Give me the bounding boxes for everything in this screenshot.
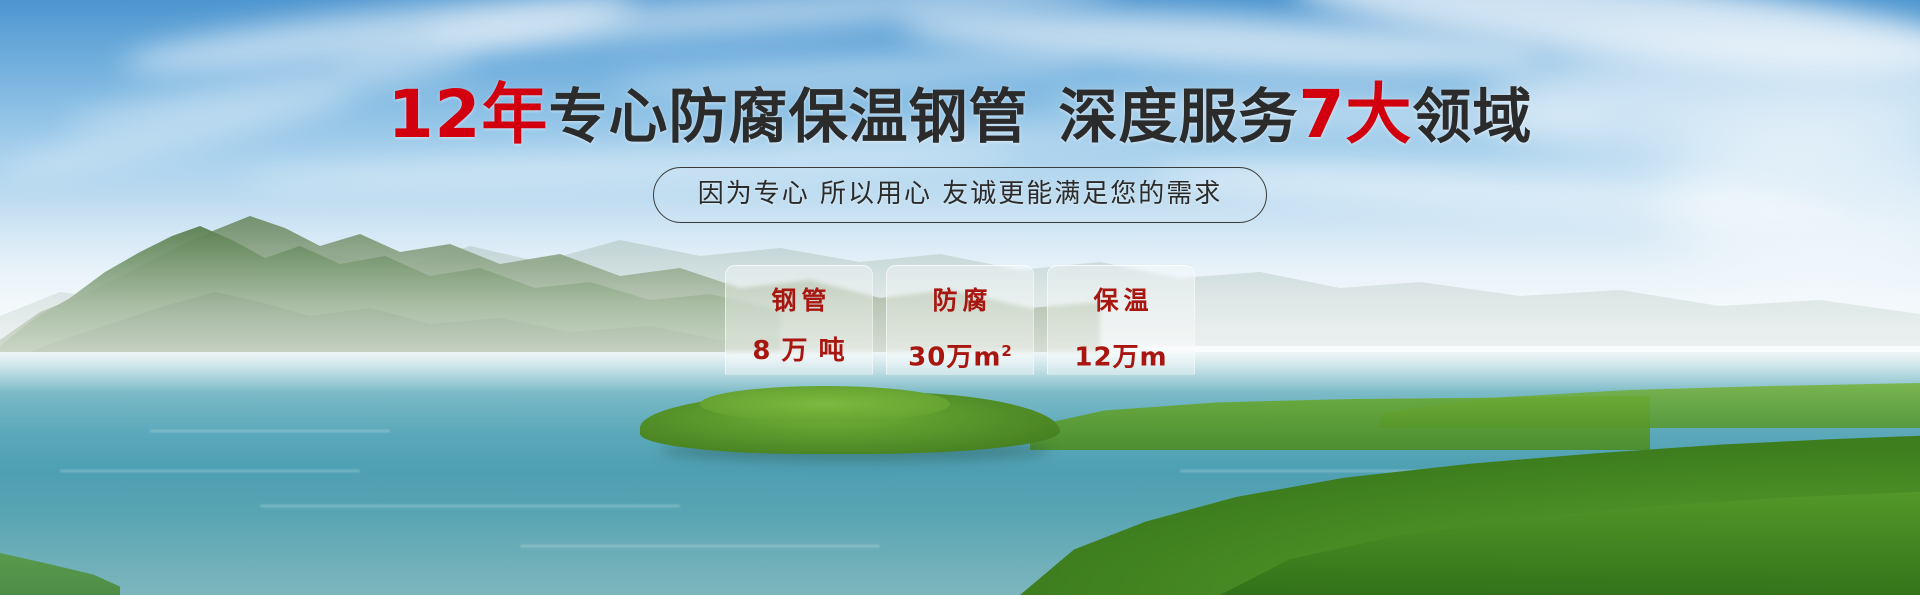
stats-row: 钢管 8 万 吨 防腐 30万m2 保温 12万m [0, 265, 1920, 375]
stat-value-text: 30万m [908, 343, 1001, 373]
headline-fields: 领域 [1412, 82, 1532, 151]
hero-banner: 12年专心防腐保温钢管深度服务7大领域 因为专心 所以用心 友诚更能满足您的需求… [0, 0, 1920, 595]
stat-value-text: 12万m [1074, 343, 1167, 373]
headline-main: 专心防腐保温钢管 [548, 82, 1028, 151]
stat-value: 12万m [1074, 336, 1167, 373]
subtitle-pill: 因为专心 所以用心 友诚更能满足您的需求 [653, 167, 1268, 223]
headline-fields-count: 7大 [1298, 76, 1412, 153]
subtitle-container: 因为专心 所以用心 友诚更能满足您的需求 [0, 167, 1920, 223]
banner-content: 12年专心防腐保温钢管深度服务7大领域 因为专心 所以用心 友诚更能满足您的需求… [0, 0, 1920, 595]
stat-label: 保温 [1088, 287, 1153, 315]
stat-value-superscript: 2 [1001, 342, 1011, 360]
stat-label: 钢管 [766, 287, 831, 315]
headline: 12年专心防腐保温钢管深度服务7大领域 [0, 82, 1920, 150]
stat-card-anticorrosion: 防腐 30万m2 [886, 265, 1034, 375]
stat-card-steel-pipe: 钢管 8 万 吨 [725, 265, 873, 375]
stat-card-insulation: 保温 12万m [1047, 265, 1195, 375]
headline-years: 12年 [388, 76, 549, 153]
stat-label: 防腐 [927, 287, 992, 315]
stat-value: 30万m2 [908, 336, 1012, 373]
headline-service: 深度服务 [1058, 82, 1298, 151]
stat-value: 8 万 吨 [752, 336, 845, 366]
